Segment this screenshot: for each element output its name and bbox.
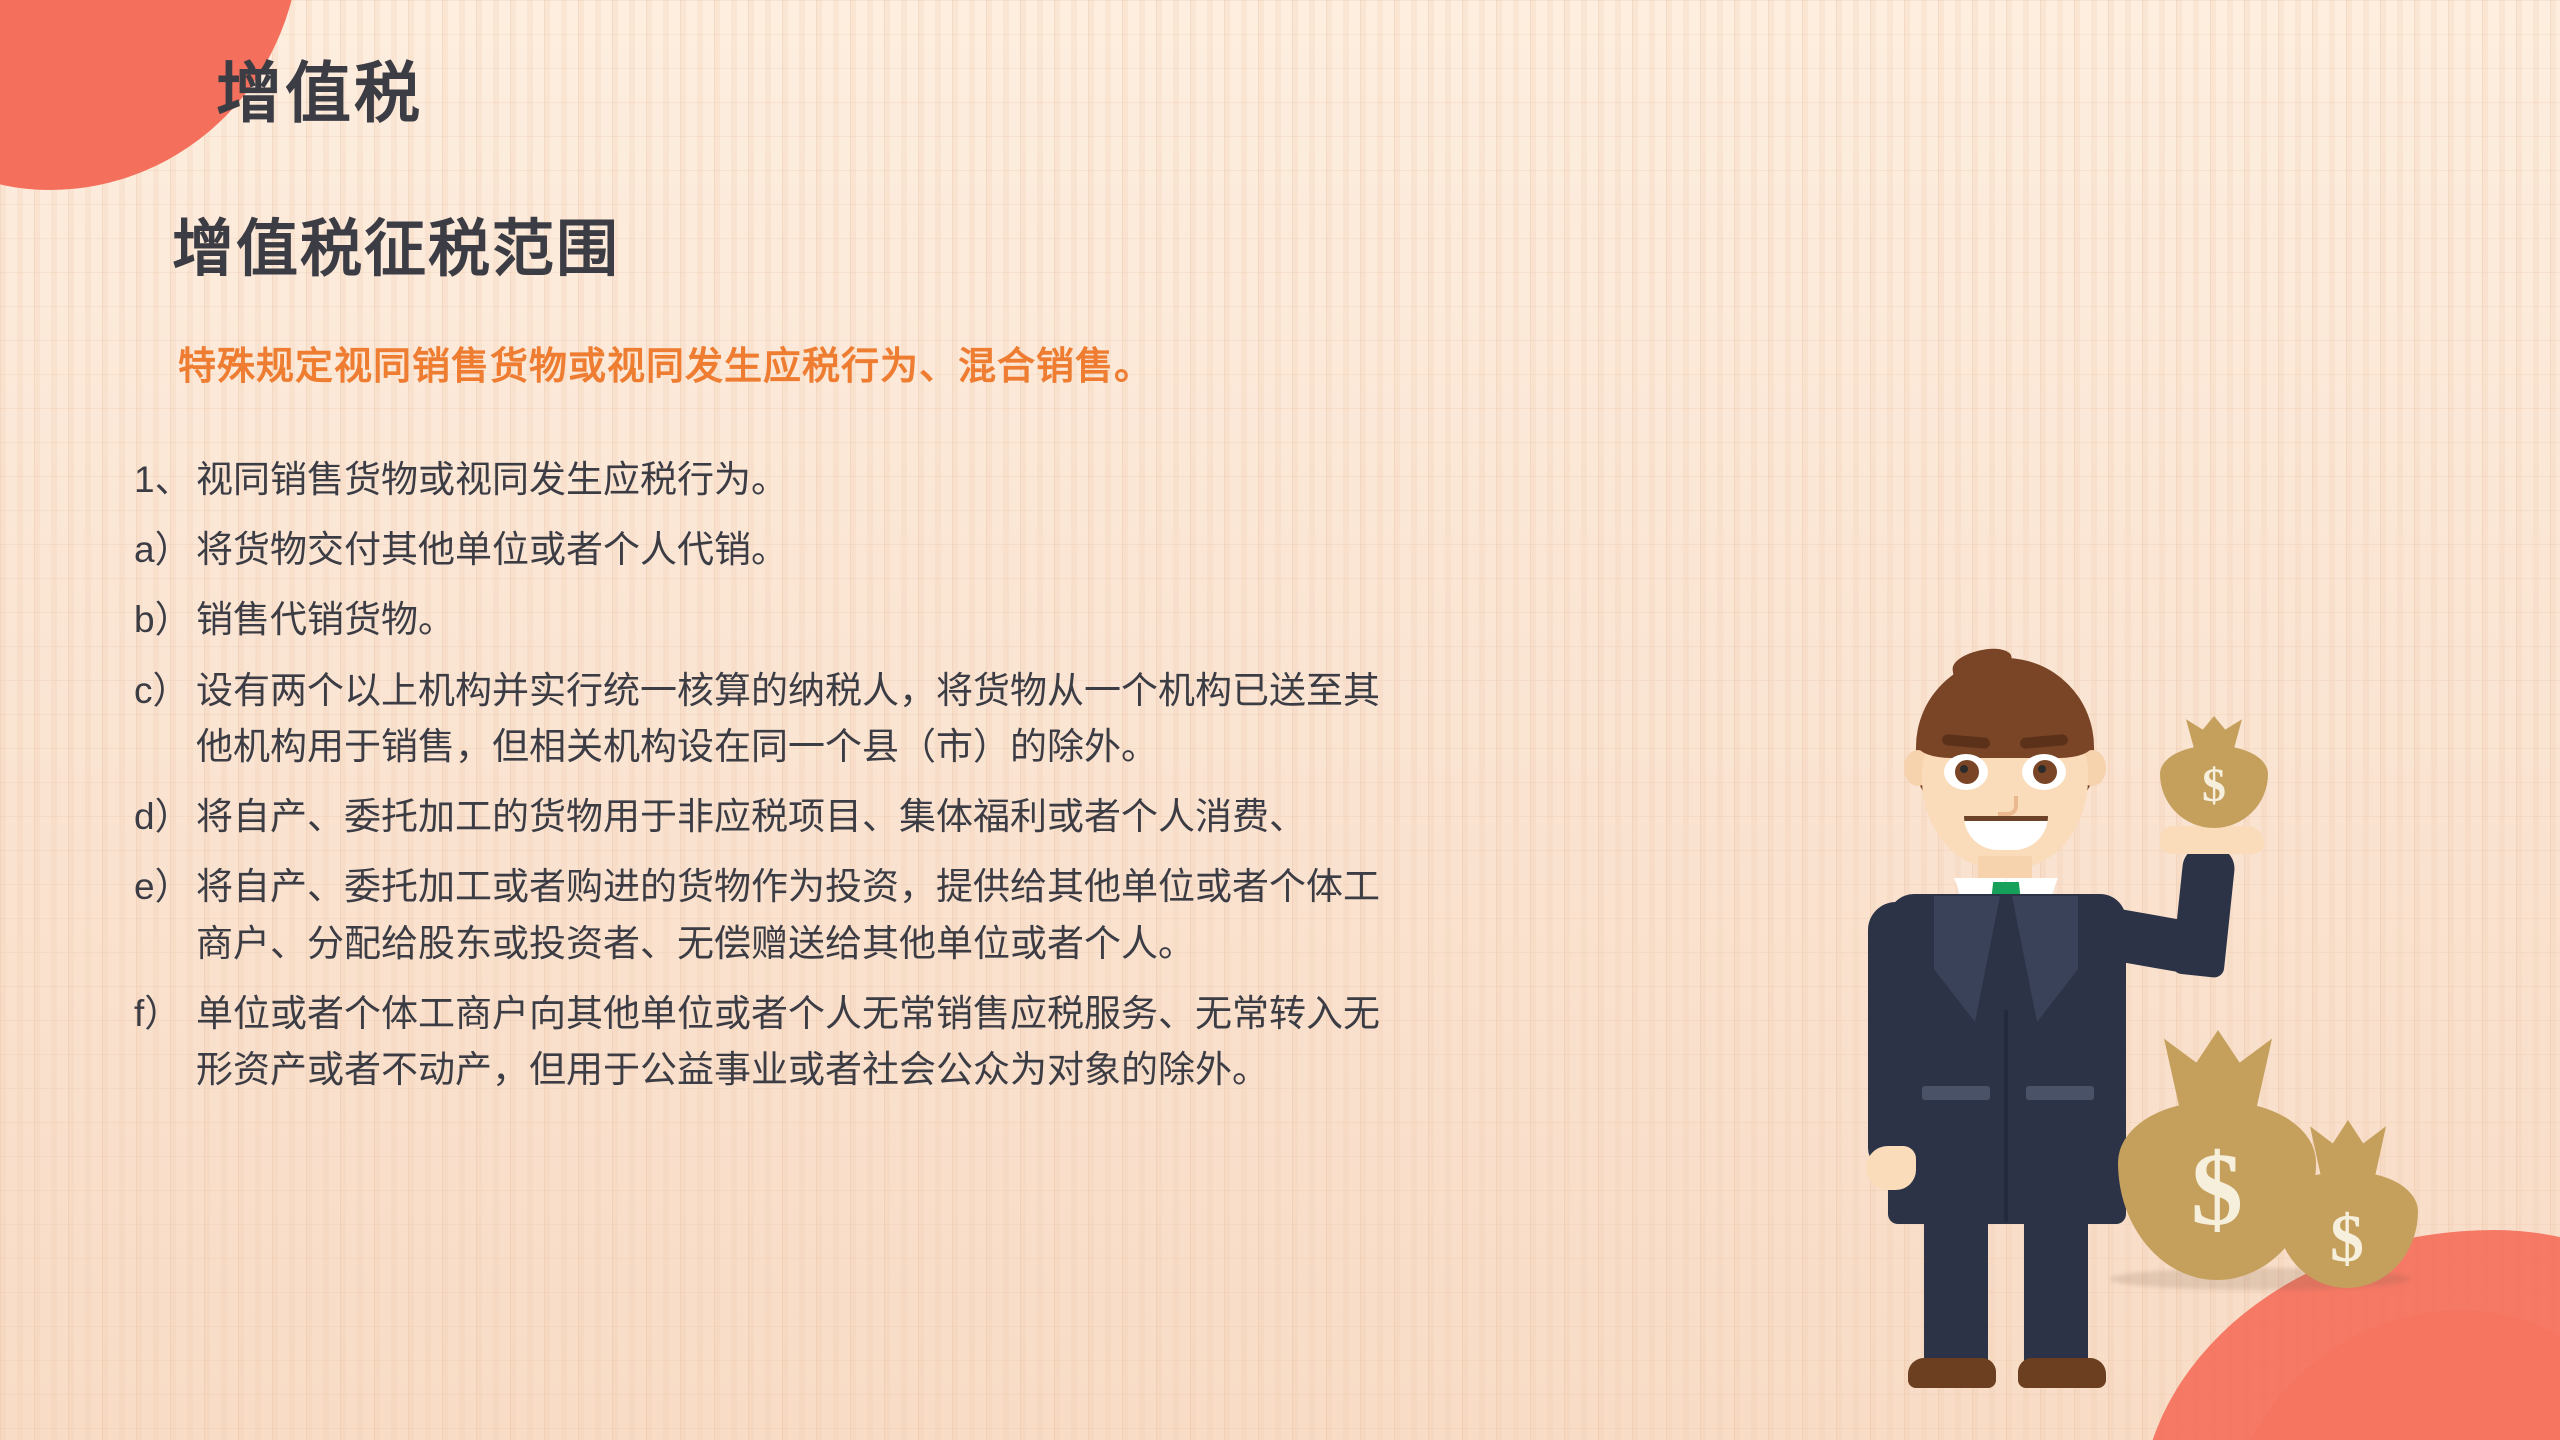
list-item-text: 将自产、委托加工或者购进的货物作为投资，提供给其他单位或者个体工 商户、分配给股… <box>196 859 1774 971</box>
list-item-text: 将自产、委托加工的货物用于非应税项目、集体福利或者个人消费、 <box>196 789 1774 845</box>
right-pupil <box>2033 760 2057 784</box>
list-item-line: 销售代销货物。 <box>196 592 1774 648</box>
list-item-text: 设有两个以上机构并实行统一核算的纳税人，将货物从一个机构已送至其 他机构用于销售… <box>196 663 1774 775</box>
list-item-text: 销售代销货物。 <box>196 592 1774 648</box>
list-item-line: 他机构用于销售，但相关机构设在同一个县（市）的除外。 <box>196 719 1774 775</box>
right-forearm <box>2171 844 2236 979</box>
money-bag-small: $ <box>2272 1120 2422 1288</box>
list-item-text: 单位或者个体工商户向其他单位或者个人无常销售应税服务、无常转入无 形资产或者不动… <box>196 986 1774 1098</box>
list-item-text: 将货物交付其他单位或者个人代销。 <box>196 522 1774 578</box>
jacket-pocket-left <box>1922 1086 1990 1100</box>
list-item-line: 视同销售货物或视同发生应税行为。 <box>196 452 1774 508</box>
list-item-marker: f） <box>134 986 196 1042</box>
list-item-line: 将自产、委托加工或者购进的货物作为投资，提供给其他单位或者个体工 <box>196 859 1774 915</box>
list-item-line: 商户、分配给股东或投资者、无偿赠送给其他单位或者个人。 <box>196 916 1774 972</box>
list-item-line: 设有两个以上机构并实行统一核算的纳税人，将货物从一个机构已送至其 <box>196 663 1774 719</box>
dollar-sign-icon: $ <box>2156 762 2272 810</box>
list-item: 1、 视同销售货物或视同发生应税行为。 <box>134 452 1774 508</box>
left-leg <box>1924 1216 1988 1366</box>
list-item: b） 销售代销货物。 <box>134 592 1774 648</box>
list-item-line: 将自产、委托加工的货物用于非应税项目、集体福利或者个人消费、 <box>196 789 1774 845</box>
list-item: f） 单位或者个体工商户向其他单位或者个人无常销售应税服务、无常转入无 形资产或… <box>134 986 1774 1098</box>
hair-fringe <box>1918 692 2092 758</box>
left-hand <box>1866 1146 1916 1190</box>
nose <box>1998 796 2018 816</box>
list-item: e） 将自产、委托加工或者购进的货物作为投资，提供给其他单位或者个体工 商户、分… <box>134 859 1774 971</box>
list-item-line: 将货物交付其他单位或者个人代销。 <box>196 522 1774 578</box>
left-arm <box>1868 902 1922 1170</box>
list-item-marker: b） <box>134 592 196 648</box>
list-item-text: 视同销售货物或视同发生应税行为。 <box>196 452 1774 508</box>
jacket-center-seam <box>2004 1010 2008 1222</box>
slide-subtitle: 增值税征税范围 <box>172 198 620 288</box>
list-item-line: 单位或者个体工商户向其他单位或者个人无常销售应税服务、无常转入无 <box>196 986 1774 1042</box>
list-item-marker: 1、 <box>134 452 196 508</box>
left-pupil <box>1955 760 1979 784</box>
list-item-marker: e） <box>134 859 196 915</box>
list-item-line: 形资产或者不动产，但用于公益事业或者社会公众为对象的除外。 <box>196 1042 1774 1098</box>
right-shoe <box>2018 1358 2106 1388</box>
list-item-marker: c） <box>134 663 196 719</box>
left-shoe <box>1908 1358 1996 1388</box>
list-item: c） 设有两个以上机构并实行统一核算的纳税人，将货物从一个机构已送至其 他机构用… <box>134 663 1774 775</box>
right-leg <box>2024 1216 2088 1366</box>
dollar-sign-icon: $ <box>2272 1204 2422 1272</box>
presentation-slide: 增值税 增值税征税范围 特殊规定视同销售货物或视同发生应税行为、混合销售。 1、… <box>0 0 2560 1440</box>
right-hand <box>2160 826 2264 854</box>
highlight-note: 特殊规定视同销售货物或视同发生应税行为、混合销售。 <box>178 335 1153 390</box>
list-item-marker: d） <box>134 789 196 845</box>
content-list: 1、 视同销售货物或视同发生应税行为。 a） 将货物交付其他单位或者个人代销。 … <box>134 452 1774 1112</box>
businessman-with-money-illustration: $ $ $ <box>1860 650 2480 1390</box>
list-item: d） 将自产、委托加工的货物用于非应税项目、集体福利或者个人消费、 <box>134 789 1774 845</box>
money-bag-held: $ <box>2156 716 2272 828</box>
slide-title: 增值税 <box>216 40 423 136</box>
list-item: a） 将货物交付其他单位或者个人代销。 <box>134 522 1774 578</box>
jacket-pocket-right <box>2026 1086 2094 1100</box>
list-item-marker: a） <box>134 522 196 578</box>
